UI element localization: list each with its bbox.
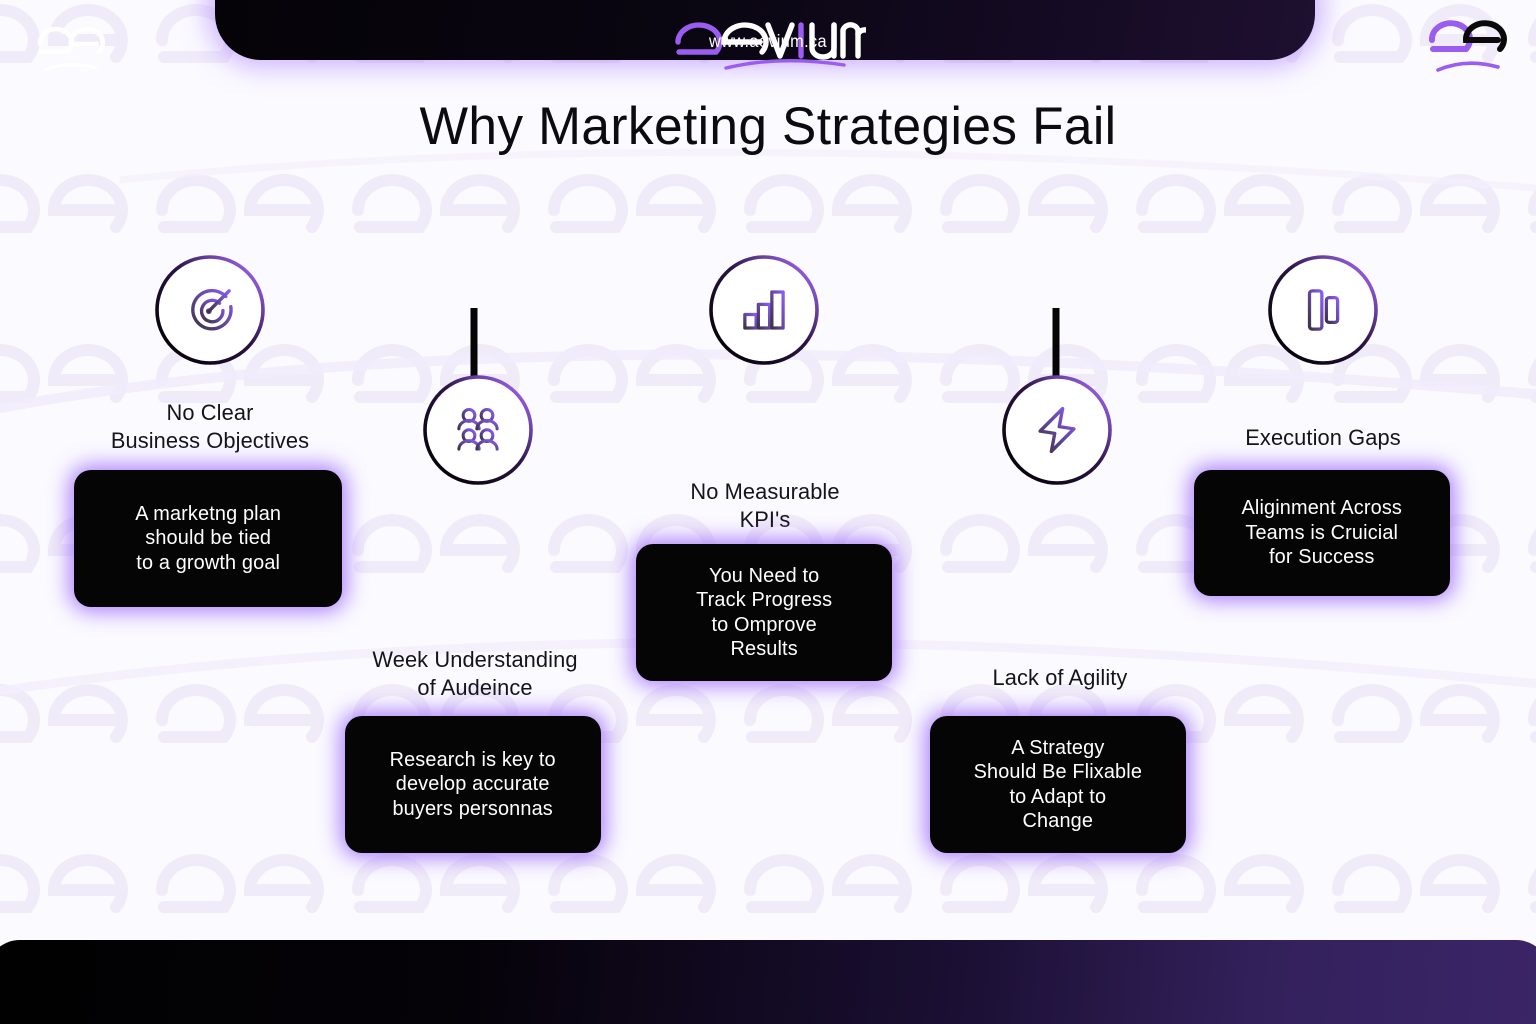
card-text: You Need to Track Progress to Omprove Re… (696, 564, 832, 662)
footer-url[interactable]: www.aevium.ca (54, 31, 1482, 52)
card-text: A marketng plan should be tied to a grow… (135, 502, 281, 575)
node-execution-gaps[interactable] (1266, 253, 1380, 367)
label-execution-gaps: Execution Gaps (1168, 424, 1478, 452)
card-no-measurable-kpis: You Need to Track Progress to Omprove Re… (636, 544, 892, 681)
card-no-clear-objectives: A marketng plan should be tied to a grow… (74, 470, 342, 607)
node-lack-of-agility[interactable] (1000, 373, 1114, 487)
node-weak-audience-understanding[interactable] (421, 373, 535, 487)
infographic-canvas: Why Marketing Strategies Fail (0, 0, 1536, 1024)
people-group-icon (451, 403, 505, 457)
node-no-measurable-kpis[interactable] (707, 253, 821, 367)
card-text: A Strategy Should Be Flixable to Adapt t… (974, 736, 1142, 834)
card-execution-gaps: Aliginment Across Teams is Cruicial for … (1194, 470, 1450, 596)
bar-chart-icon (737, 283, 791, 337)
footer-bar (0, 940, 1536, 1024)
align-center-vertical-icon (1296, 283, 1350, 337)
label-no-clear-objectives: No Clear Business Objectives (35, 399, 384, 456)
lightning-bolt-icon (1030, 403, 1084, 457)
label-lack-of-agility: Lack of Agility (905, 664, 1215, 692)
card-lack-of-agility: A Strategy Should Be Flixable to Adapt t… (930, 716, 1186, 853)
node-no-clear-objectives[interactable] (153, 253, 267, 367)
card-text: Research is key to develop accurate buye… (390, 748, 556, 821)
target-icon (183, 283, 237, 337)
label-no-measurable-kpis: No Measurable KPI's (605, 478, 925, 535)
label-weak-audience-understanding: Week Understanding of Audeince (315, 646, 635, 703)
page-title: Why Marketing Strategies Fail (23, 96, 1513, 157)
card-text: Aliginment Across Teams is Cruicial for … (1242, 496, 1403, 569)
card-weak-audience-understanding: Research is key to develop accurate buye… (345, 716, 601, 853)
